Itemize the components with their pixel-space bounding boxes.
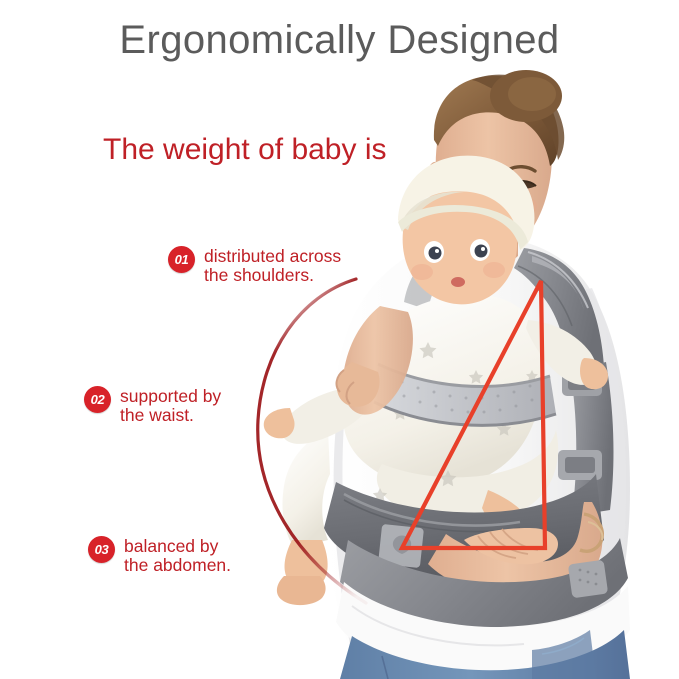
product-infographic: Ergonomically Designed The weight of bab… <box>0 0 679 679</box>
callout-badge-01: 01 <box>168 246 195 273</box>
page-title: Ergonomically Designed <box>0 18 679 63</box>
callout-03: 03 balanced by the abdomen. <box>88 536 231 575</box>
callout-text-03: balanced by the abdomen. <box>124 536 231 575</box>
callout-text-01: distributed across the shoulders. <box>204 246 341 285</box>
callout-badge-03: 03 <box>88 536 115 563</box>
callout-text-02: supported by the waist. <box>120 386 221 425</box>
callout-01: 01 distributed across the shoulders. <box>168 246 341 285</box>
callout-02: 02 supported by the waist. <box>84 386 221 425</box>
page-subtitle: The weight of baby is <box>103 133 387 167</box>
callout-badge-02: 02 <box>84 386 111 413</box>
